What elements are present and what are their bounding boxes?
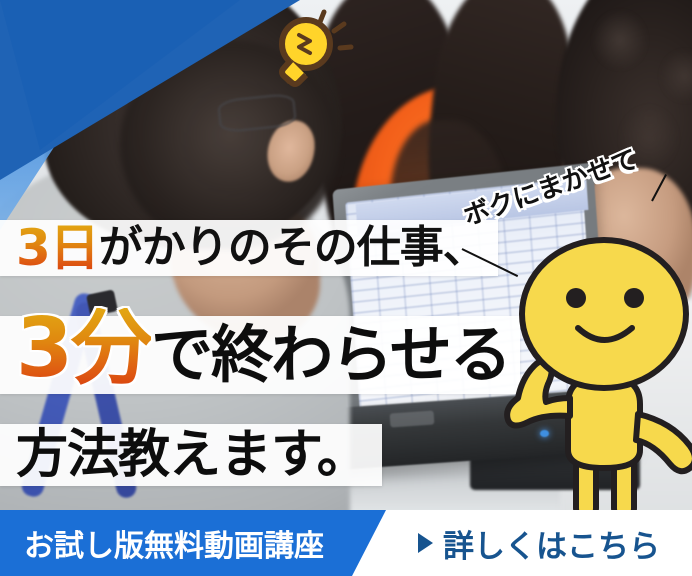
headline-line-1-text: がかりのその仕事、 bbox=[99, 226, 486, 270]
bottom-bar: お試し版無料動画講座 詳しくはこちら bbox=[0, 510, 692, 576]
mascot-eye-left bbox=[566, 288, 586, 308]
mascot-arm-right bbox=[636, 414, 692, 471]
mascot-character bbox=[494, 236, 692, 528]
mascot-head bbox=[522, 240, 686, 388]
lightbulb-icon bbox=[258, 8, 354, 88]
badge-label: お試し版無料動画講座 bbox=[24, 510, 324, 576]
headline-line-2-text: で終わらせる bbox=[151, 324, 510, 386]
ad-banner: 3日 がかりのその仕事、 3分 で終わらせる 方法教えます。 ボクにまかせて bbox=[0, 0, 692, 576]
headline-highlight-3days: 3日 bbox=[16, 223, 99, 273]
cta-link[interactable]: 詳しくはこちら bbox=[418, 510, 660, 576]
headline-line-2: 3分 で終わらせる bbox=[0, 316, 520, 394]
headline-line-1: 3日 がかりのその仕事、 bbox=[0, 220, 498, 276]
mascot-eye-right bbox=[624, 288, 644, 308]
headline-line-3-text: 方法教えます。 bbox=[16, 429, 368, 481]
play-triangle-icon bbox=[418, 533, 433, 553]
cta-label: 詳しくはこちら bbox=[443, 521, 660, 566]
headline-line-3: 方法教えます。 bbox=[0, 424, 382, 486]
headline-highlight-3minutes: 3分 bbox=[16, 308, 151, 390]
